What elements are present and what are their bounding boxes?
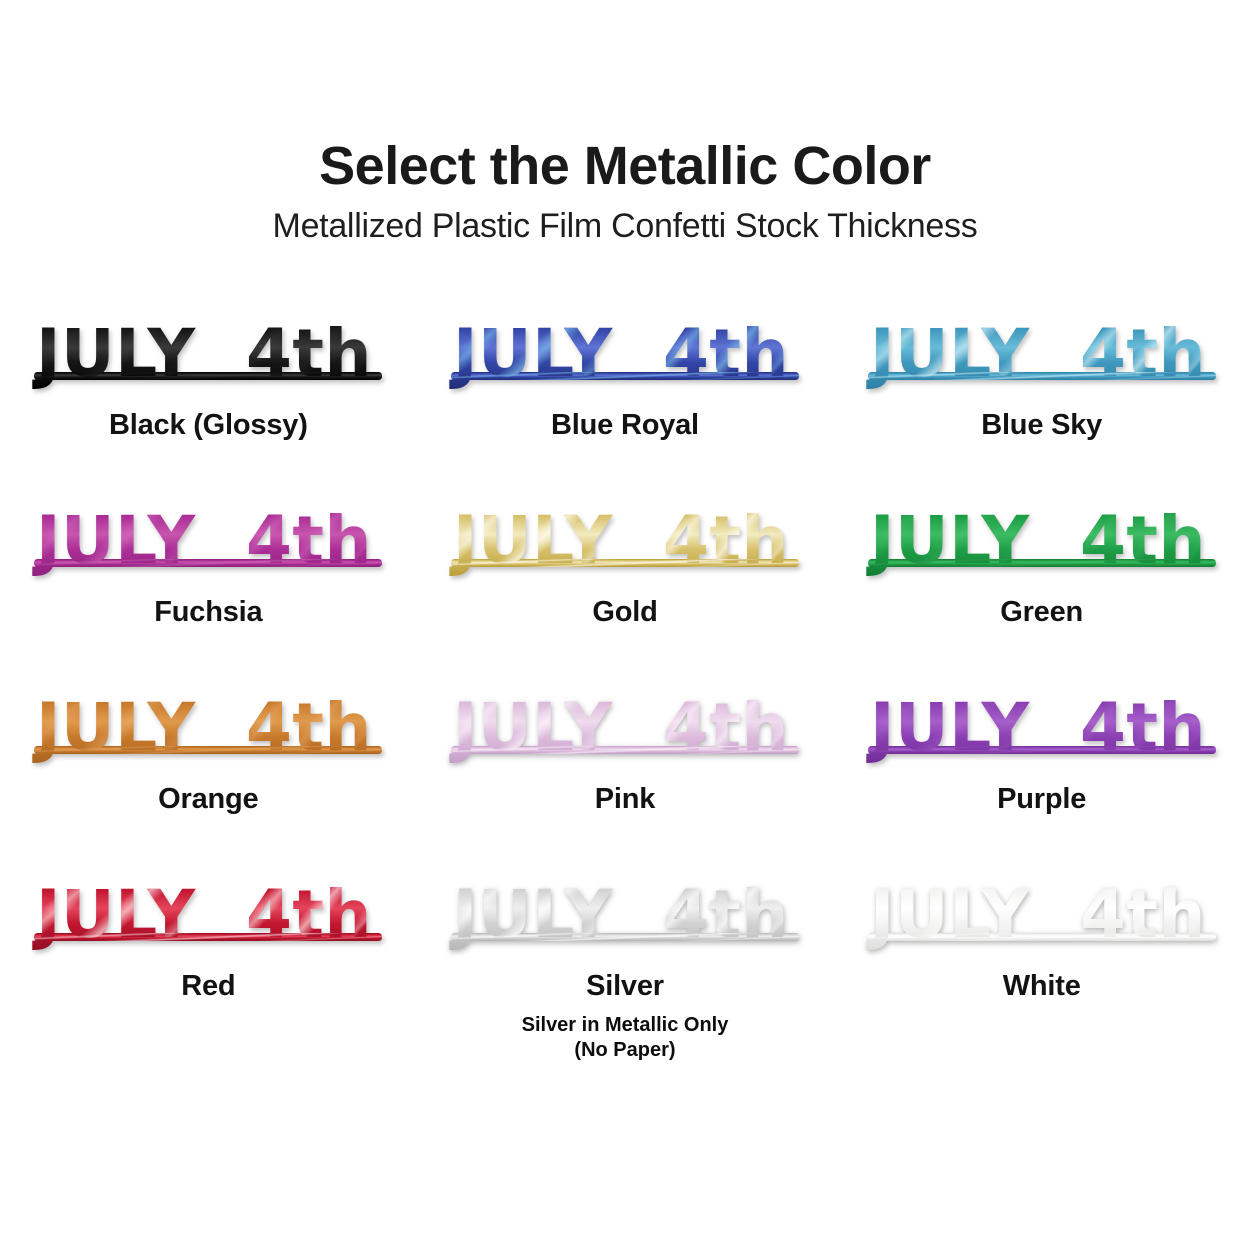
sample-word-main: JULY <box>449 502 613 579</box>
color-swatch-gold[interactable]: JULY4thJULY4thGold <box>417 487 834 674</box>
sample-word-ordinal: 4th <box>1080 876 1206 953</box>
sample-word-ordinal: 4th <box>1080 315 1206 392</box>
swatch-label-pink: Pink <box>595 784 655 816</box>
swatch-label-orange: Orange <box>158 784 258 816</box>
sample-word-ordinal: 4th <box>246 315 372 392</box>
sample-artwork-pink: JULY4thJULY4th <box>445 674 805 770</box>
sample-word-ordinal: 4th <box>1080 502 1206 579</box>
sample-word-ordinal: 4th <box>663 315 789 392</box>
sample-artwork-purple: JULY4thJULY4th <box>862 674 1222 770</box>
metallic-sheen-overlay: JULY4th <box>32 876 382 953</box>
swatch-label-purple: Purple <box>997 784 1086 816</box>
color-swatch-white[interactable]: JULY4thJULY4thWhite <box>833 861 1250 1048</box>
sample-image-purple[interactable]: JULY4thJULY4th <box>852 674 1232 770</box>
sample-word-ordinal: 4th <box>246 502 372 579</box>
metallic-sheen-overlay: JULY4th <box>866 502 1216 579</box>
sample-artwork-green: JULY4thJULY4th <box>862 487 1222 583</box>
sample-word-ordinal: 4th <box>246 876 372 953</box>
metallic-sheen-overlay: JULY4th <box>32 502 382 579</box>
sample-image-gold[interactable]: JULY4thJULY4th <box>435 487 815 583</box>
sample-word-ordinal: 4th <box>246 689 372 766</box>
sample-artwork-red: JULY4thJULY4th <box>28 861 388 957</box>
swatch-label-red: Red <box>181 971 235 1003</box>
sample-artwork-blue-sky: JULY4thJULY4th <box>862 300 1222 396</box>
sample-word-ordinal: 4th <box>1080 689 1206 766</box>
color-swatch-pink[interactable]: JULY4thJULY4thPink <box>417 674 834 861</box>
sample-word-main: JULY <box>32 315 196 392</box>
color-swatch-red[interactable]: JULY4thJULY4thRed <box>0 861 417 1048</box>
metallic-sheen-overlay: JULY4th <box>449 315 799 392</box>
sample-image-black-glossy[interactable]: JULY4thJULY4th <box>18 300 398 396</box>
sample-word-main: JULY <box>866 502 1030 579</box>
sample-artwork-black-glossy: JULY4thJULY4th <box>28 300 388 396</box>
sample-image-red[interactable]: JULY4thJULY4th <box>18 861 398 957</box>
swatch-label-white: White <box>1003 971 1081 1003</box>
metallic-sheen-overlay: JULY4th <box>32 315 382 392</box>
sample-image-fuchsia[interactable]: JULY4thJULY4th <box>18 487 398 583</box>
swatch-label-silver: Silver <box>586 971 664 1003</box>
color-swatch-blue-sky[interactable]: JULY4thJULY4thBlue Sky <box>833 300 1250 487</box>
sample-artwork-fuchsia: JULY4thJULY4th <box>28 487 388 583</box>
sample-image-blue-royal[interactable]: JULY4thJULY4th <box>435 300 815 396</box>
color-swatch-fuchsia[interactable]: JULY4thJULY4thFuchsia <box>0 487 417 674</box>
sample-image-pink[interactable]: JULY4thJULY4th <box>435 674 815 770</box>
sample-artwork-gold: JULY4thJULY4th <box>445 487 805 583</box>
metallic-sheen-overlay: JULY4th <box>866 689 1216 766</box>
color-swatch-black-glossy[interactable]: JULY4thJULY4thBlack (Glossy) <box>0 300 417 487</box>
sample-artwork-blue-royal: JULY4thJULY4th <box>445 300 805 396</box>
swatch-label-black-glossy: Black (Glossy) <box>109 410 308 442</box>
swatch-label-gold: Gold <box>592 597 657 629</box>
sample-word-main: JULY <box>866 315 1030 392</box>
color-selection-page: Select the Metallic Color Metallized Pla… <box>0 0 1250 1250</box>
sample-artwork-silver: JULY4thJULY4th <box>445 861 805 957</box>
page-header: Select the Metallic Color Metallized Pla… <box>0 0 1250 244</box>
color-swatch-green[interactable]: JULY4thJULY4thGreen <box>833 487 1250 674</box>
page-title: Select the Metallic Color <box>0 138 1250 194</box>
metallic-sheen-overlay: JULY4th <box>449 689 799 766</box>
sample-image-silver[interactable]: JULY4thJULY4th <box>435 861 815 957</box>
sample-word-main: JULY <box>449 876 613 953</box>
sample-image-orange[interactable]: JULY4thJULY4th <box>18 674 398 770</box>
sample-artwork-orange: JULY4thJULY4th <box>28 674 388 770</box>
swatch-label-green: Green <box>1000 597 1083 629</box>
swatch-label-fuchsia: Fuchsia <box>154 597 262 629</box>
color-swatch-grid: JULY4thJULY4thBlack (Glossy)JULY4thJULY4… <box>0 300 1250 1048</box>
color-swatch-silver[interactable]: JULY4thJULY4thSilverSilver in Metallic O… <box>417 861 834 1048</box>
sample-word-main: JULY <box>32 876 196 953</box>
swatch-label-blue-royal: Blue Royal <box>551 410 699 442</box>
sample-image-blue-sky[interactable]: JULY4thJULY4th <box>852 300 1232 396</box>
color-swatch-purple[interactable]: JULY4thJULY4thPurple <box>833 674 1250 861</box>
sample-word-ordinal: 4th <box>663 502 789 579</box>
sample-word-main: JULY <box>32 689 196 766</box>
sample-word-main: JULY <box>449 689 613 766</box>
metallic-sheen-overlay: JULY4th <box>449 502 799 579</box>
metallic-sheen-overlay: JULY4th <box>449 876 799 953</box>
metallic-sheen-overlay: JULY4th <box>32 689 382 766</box>
sample-word-ordinal: 4th <box>663 876 789 953</box>
color-swatch-blue-royal[interactable]: JULY4thJULY4thBlue Royal <box>417 300 834 487</box>
sample-image-green[interactable]: JULY4thJULY4th <box>852 487 1232 583</box>
sample-word-main: JULY <box>449 315 613 392</box>
color-swatch-orange[interactable]: JULY4thJULY4thOrange <box>0 674 417 861</box>
sample-word-main: JULY <box>32 502 196 579</box>
sample-image-white[interactable]: JULY4thJULY4th <box>852 861 1232 957</box>
page-subtitle: Metallized Plastic Film Confetti Stock T… <box>0 208 1250 244</box>
swatch-note-line: Silver in Metallic Only <box>522 1013 729 1038</box>
metallic-sheen-overlay: JULY4th <box>866 315 1216 392</box>
sample-word-main: JULY <box>866 689 1030 766</box>
sample-word-ordinal: 4th <box>663 689 789 766</box>
swatch-note-silver: Silver in Metallic Only(No Paper) <box>522 1013 729 1063</box>
sample-artwork-white: JULY4thJULY4th <box>862 861 1222 957</box>
swatch-note-line: (No Paper) <box>522 1038 729 1063</box>
metallic-sheen-overlay: JULY4th <box>866 876 1216 953</box>
swatch-label-blue-sky: Blue Sky <box>981 410 1102 442</box>
sample-word-main: JULY <box>866 876 1030 953</box>
